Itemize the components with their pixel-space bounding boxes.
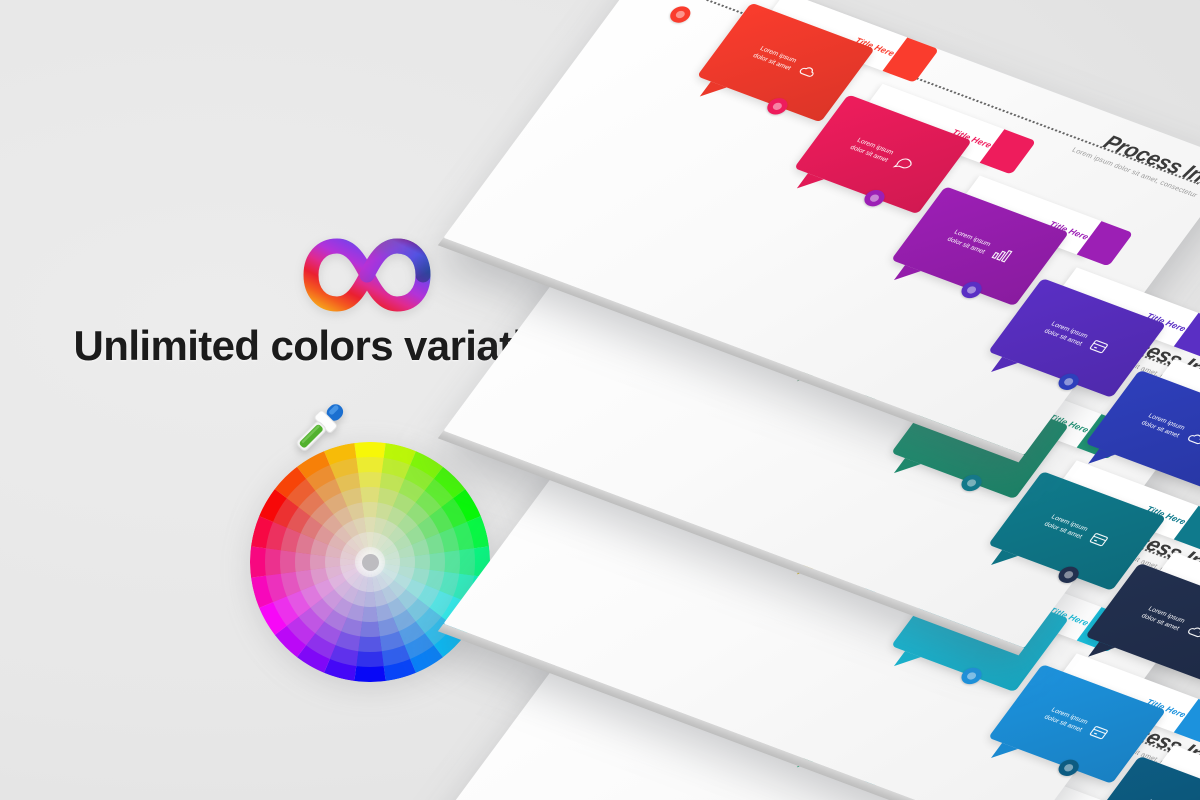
cloud-icon bbox=[794, 61, 820, 81]
chart-icon bbox=[988, 244, 1014, 264]
card-icon bbox=[1085, 529, 1111, 549]
canvas: Unlimited colors variations bbox=[0, 0, 1200, 800]
infinity-logo bbox=[303, 232, 431, 318]
cloud-icon bbox=[1183, 428, 1200, 448]
card-body-text: Lorem ipsum dolor sit amet bbox=[1042, 319, 1090, 348]
card-icon bbox=[1085, 722, 1111, 742]
card-body-text: Lorem ipsum dolor sit amet bbox=[1139, 411, 1187, 440]
ribbon-cap bbox=[883, 37, 940, 82]
chat-icon bbox=[891, 152, 917, 172]
card-icon bbox=[1085, 336, 1111, 356]
card-body-text: Lorem ipsum dolor sit amet bbox=[1139, 604, 1187, 633]
timeline-node[interactable] bbox=[666, 4, 694, 25]
eyedropper-tool[interactable] bbox=[288, 398, 363, 468]
slide-stack: Process InfLorem ipsum dolor sit amet, c… bbox=[600, 0, 1200, 800]
cloud-icon bbox=[1183, 621, 1200, 641]
card-body-text: Lorem ipsum dolor sit amet bbox=[1042, 705, 1090, 734]
card-body-text: Lorem ipsum dolor sit amet bbox=[1042, 512, 1090, 541]
color-wheel-hub bbox=[362, 554, 379, 571]
card-body-text: Lorem ipsum dolor sit amet bbox=[945, 227, 993, 256]
card-body-text: Lorem ipsum dolor sit amet bbox=[848, 135, 896, 164]
card-body-text: Lorem ipsum dolor sit amet bbox=[751, 44, 799, 73]
ribbon-cap bbox=[1077, 221, 1134, 266]
